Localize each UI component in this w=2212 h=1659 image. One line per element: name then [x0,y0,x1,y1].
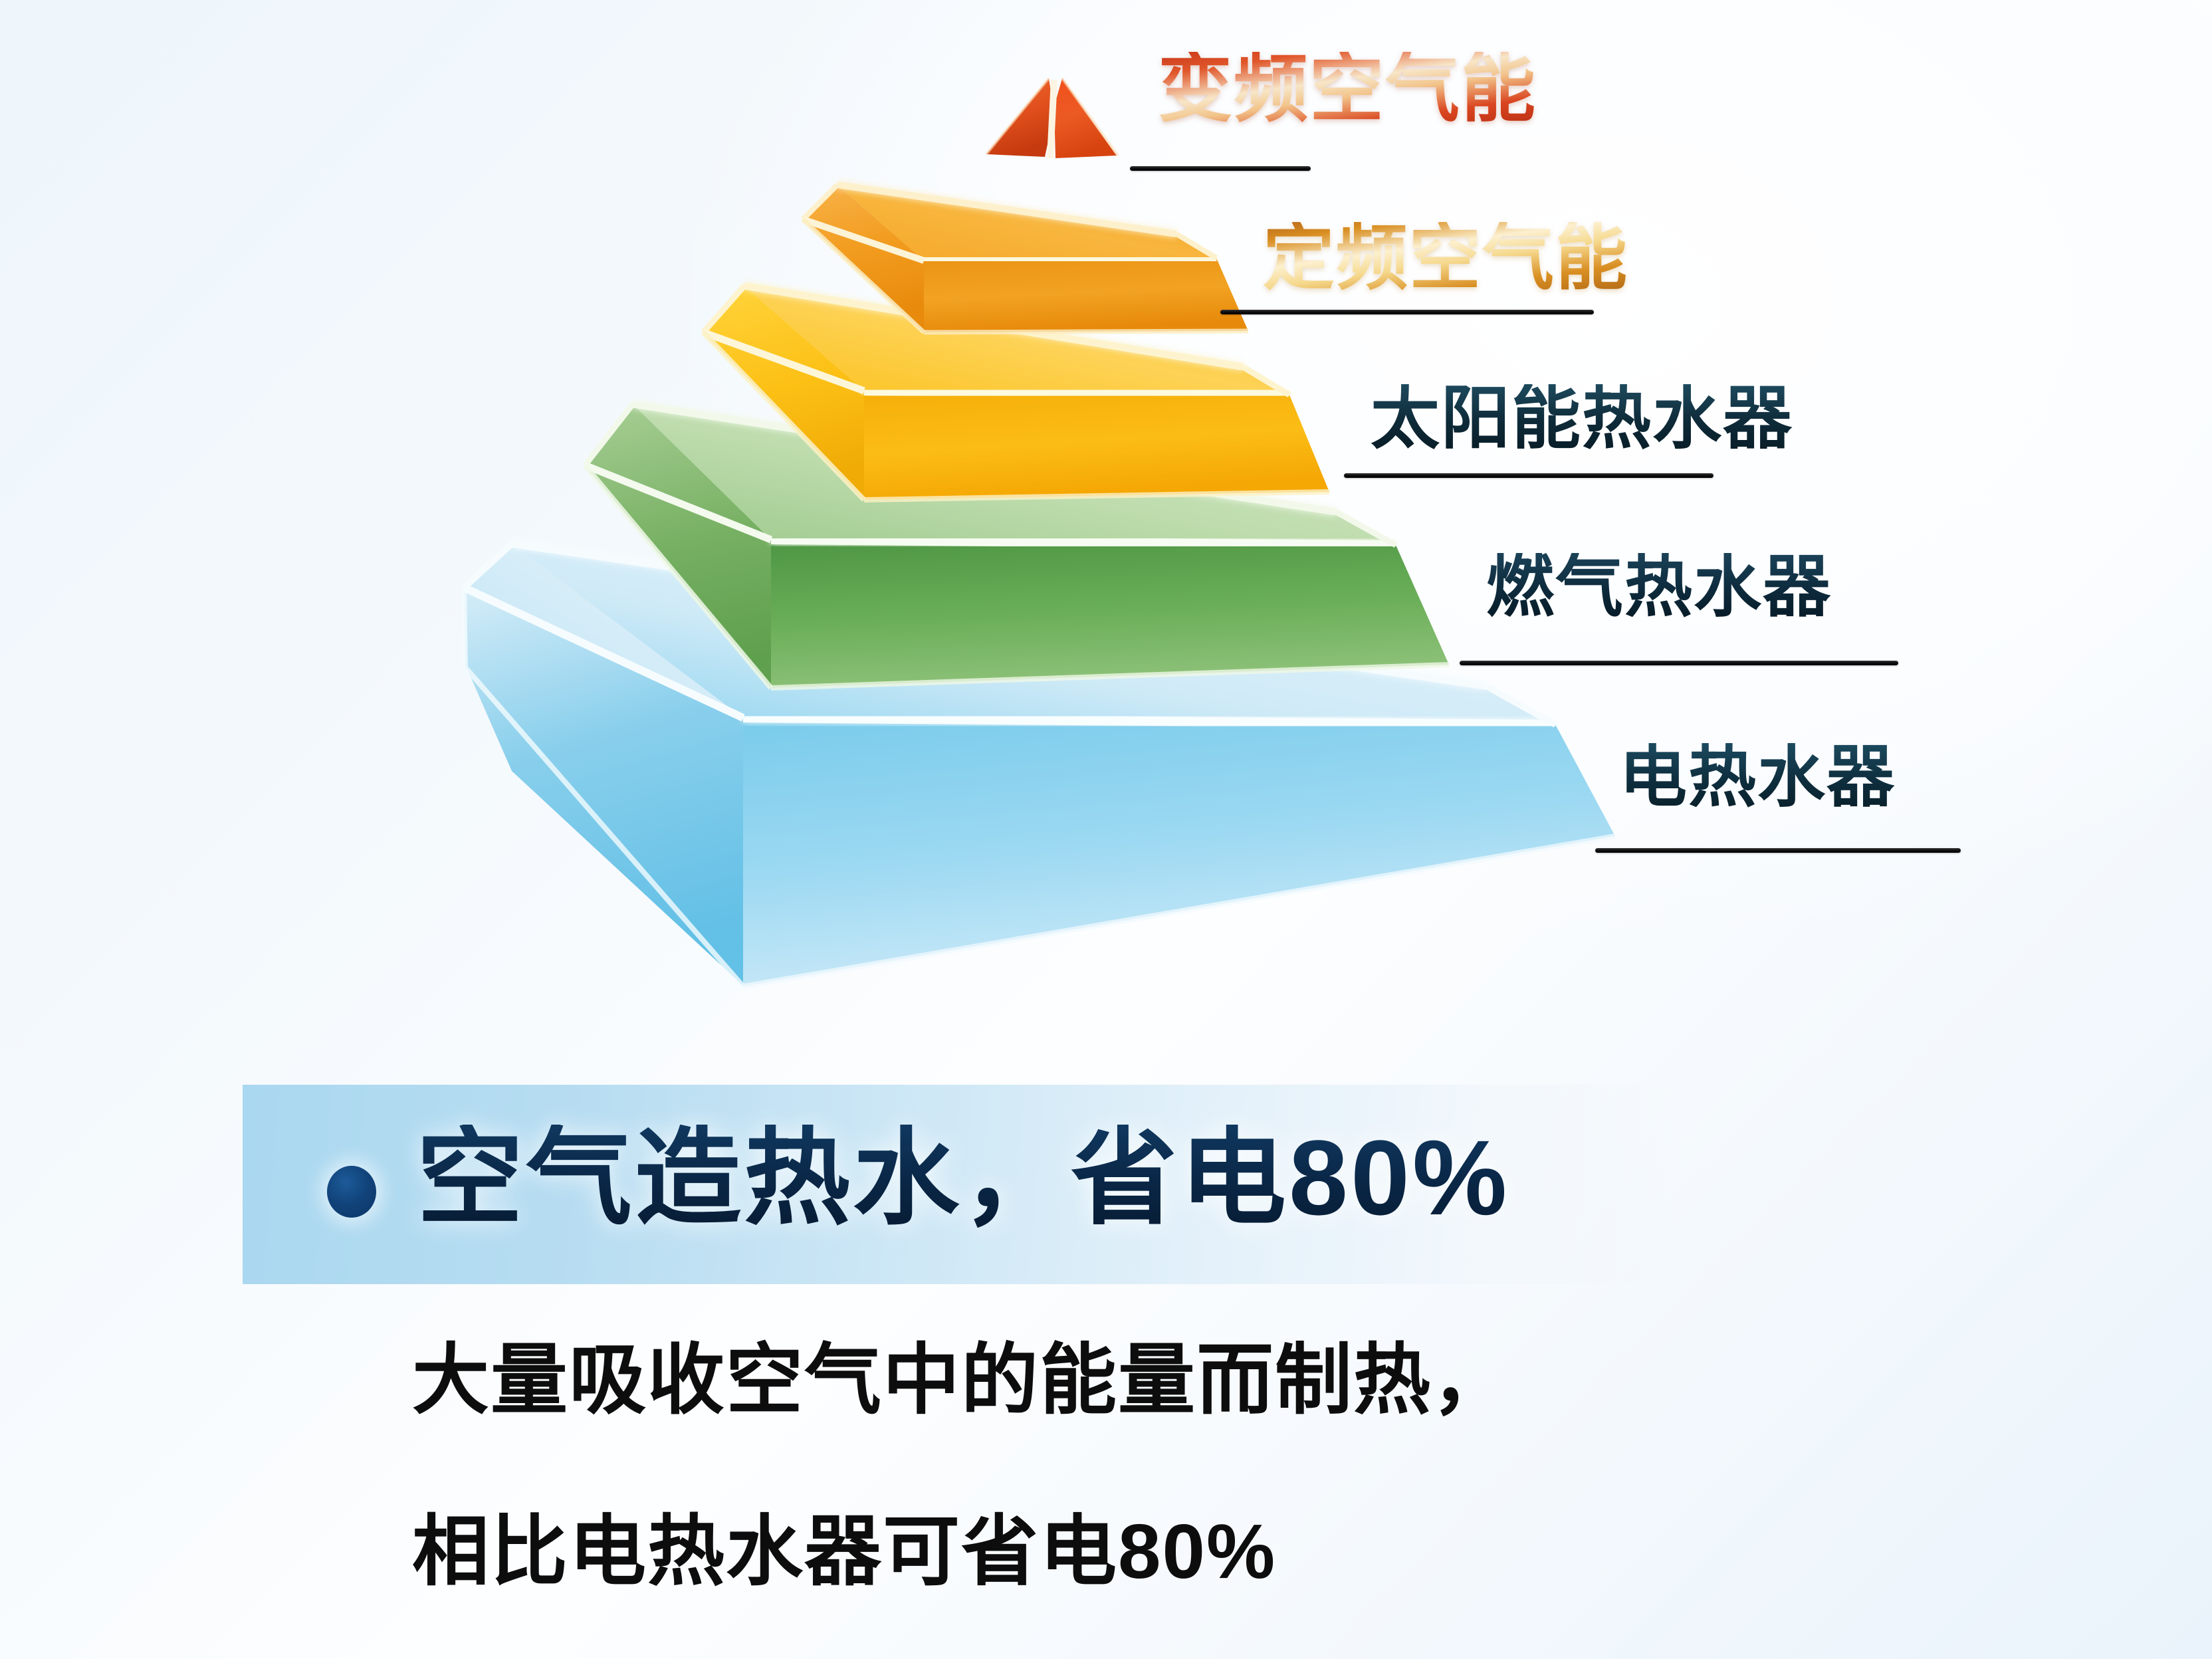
body-paragraph-line-1: 大量吸收空气中的能量而制热， [412,1341,1510,1418]
headline-text: 空气造热水，省电80% [417,1125,1509,1231]
headline-banner: 空气造热水，省电80% [243,1085,1678,1284]
tier-label-rule-4 [1460,661,1898,665]
tier-label-gas-water-heater: 燃气热水器 [1486,553,1832,621]
pyramid-apex-variable-frequency-air-energy [986,78,1118,158]
slide-canvas: 变频空气能 定频空气能 太阳能热水器 燃气热水器 电热水器 空气造热水，省电80… [0,0,2212,1659]
tier-label-electric-water-heater: 电热水器 [1619,743,1896,811]
body-paragraph-line-2: 相比电热水器可省电80% [412,1513,1276,1590]
tier-label-solar-water-heater: 太阳能热水器 [1371,384,1793,453]
tier-label-rule-1 [1130,166,1311,171]
filled-circle-bullet-icon [327,1166,376,1218]
tier-label-fixed-frequency-air-energy: 定频空气能 [1263,222,1628,294]
tier-label-rule-5 [1595,848,1961,853]
tier-label-rule-2 [1220,310,1594,314]
tier-label-rule-3 [1344,473,1714,478]
energy-efficiency-pyramid-graphic [0,0,2212,1037]
tier-label-variable-frequency-air-energy: 变频空气能 [1158,52,1537,126]
